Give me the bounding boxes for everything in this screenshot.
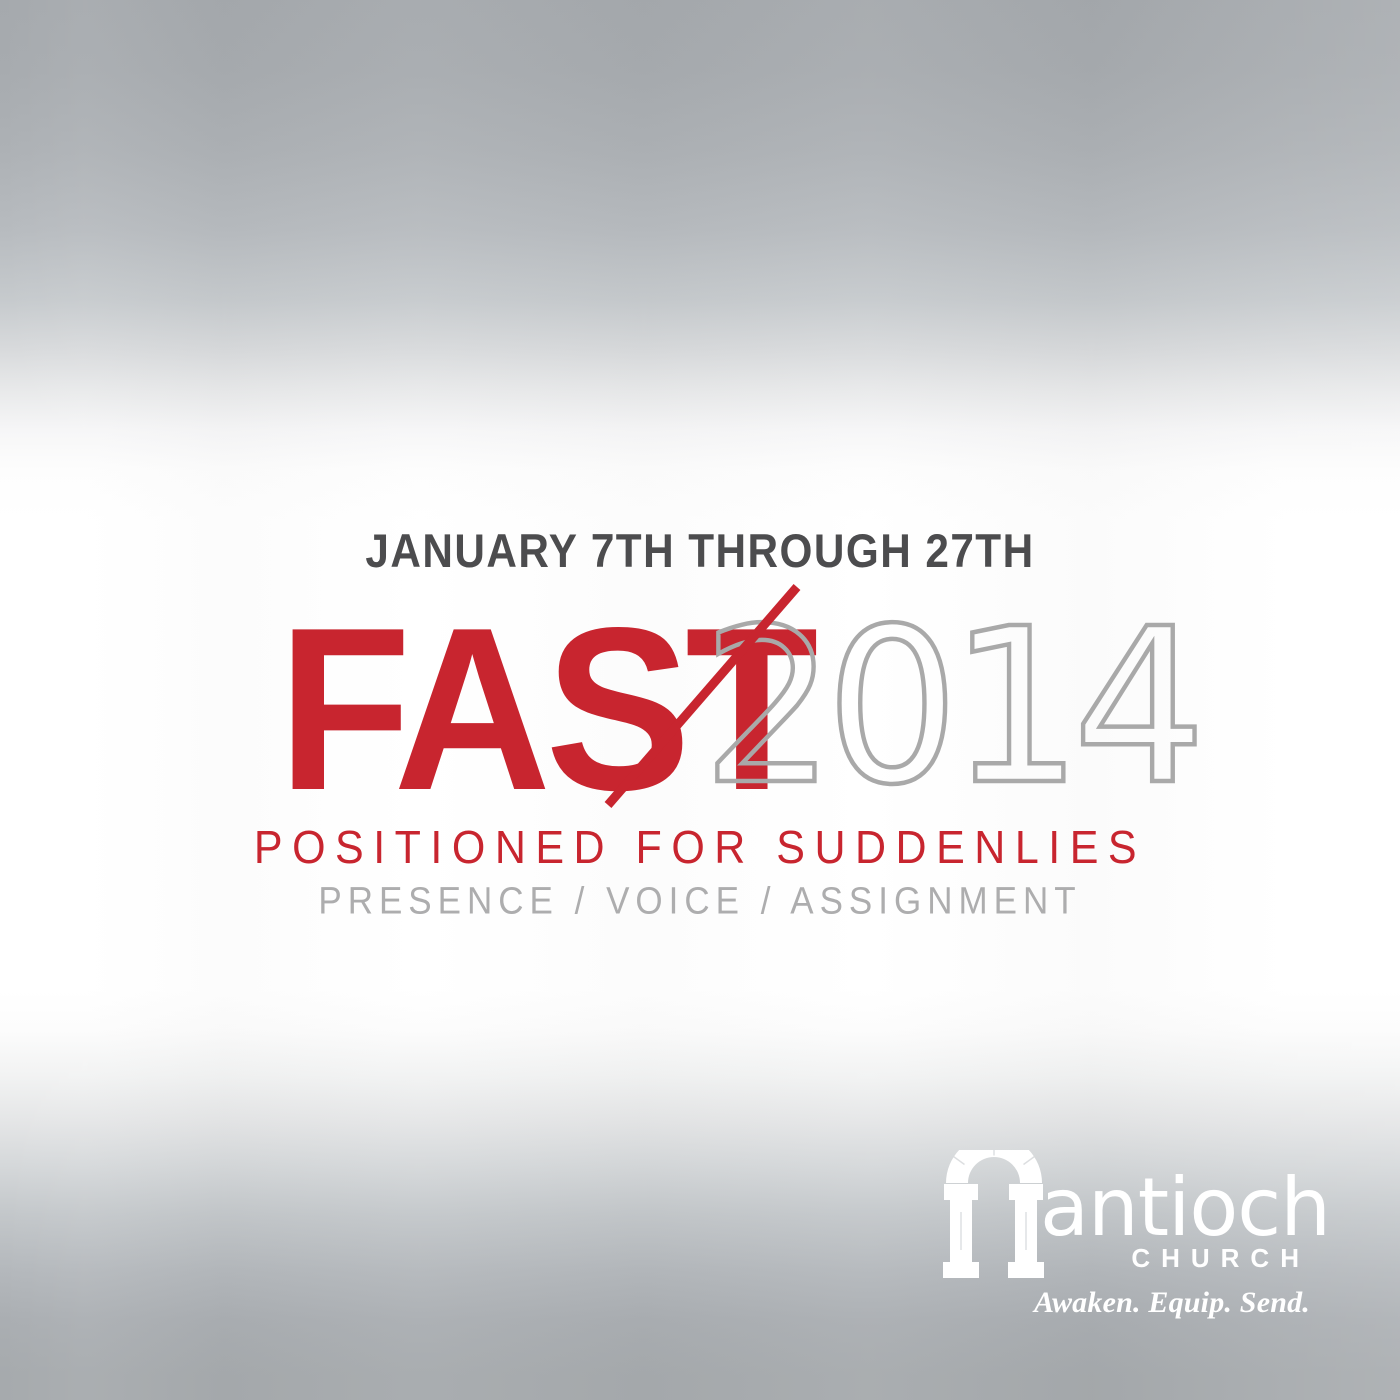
diagonal-slash-icon [270,580,1130,820]
event-date-line: JANUARY 7TH THROUGH 27TH [70,523,1330,578]
theme-subtitle: POSITIONED FOR SUDDENLIES [0,822,1400,875]
church-tagline: Awaken. Equip. Send. [958,1286,1310,1320]
focus-areas-subtitle: PRESENCE / VOICE / ASSIGNMENT [0,880,1400,923]
poster-canvas: JANUARY 7TH THROUGH 27TH FAST 2014 POSIT… [0,0,1400,1400]
antioch-wordmark: antioch [1040,1168,1310,1248]
fast-2014-lockup: FAST 2014 [270,600,1130,805]
church-logo-block: antioch CHURCH Awaken. Equip. Send. [938,1150,1310,1310]
church-label: CHURCH [1040,1243,1310,1274]
archway-icon [938,1150,1050,1282]
